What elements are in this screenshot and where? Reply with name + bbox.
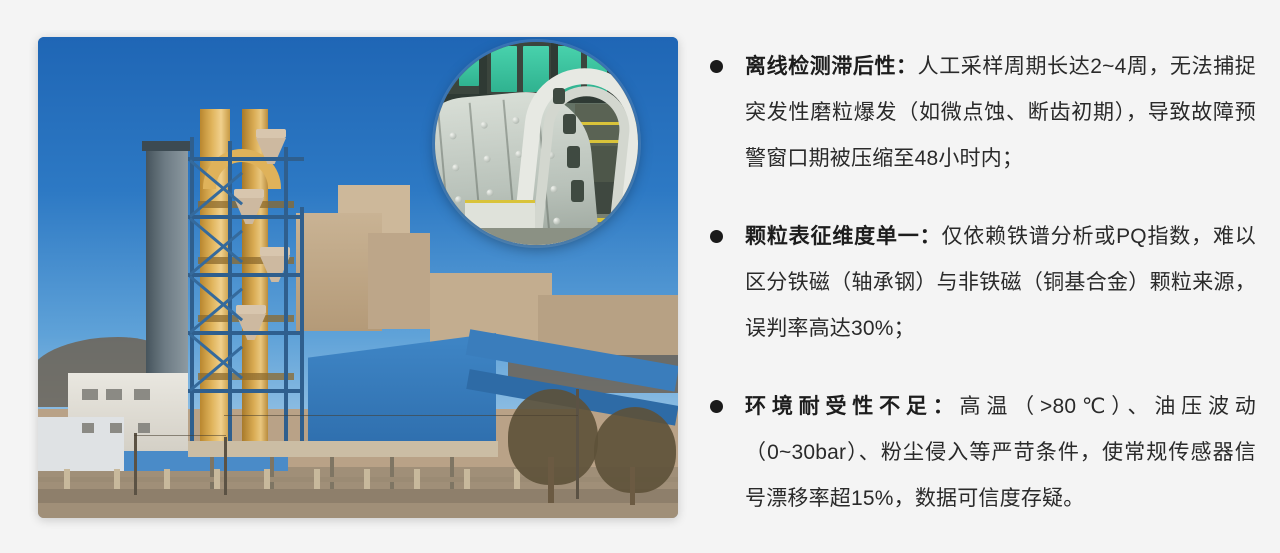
ring-lightening-hole [567, 146, 580, 168]
ring-lightening-hole [553, 88, 565, 104]
cement-plant-photo [38, 37, 678, 518]
drum-bolt [483, 155, 491, 163]
steel-beam [188, 331, 304, 335]
building-window [82, 389, 98, 400]
list-item: 离线检测滞后性：人工采样周期长达2~4周，无法捕捉突发性磨粒爆发（如微点蚀、断齿… [700, 44, 1256, 182]
platform-railing [465, 200, 535, 203]
building-window [134, 389, 150, 400]
bullet-dot-icon [710, 60, 723, 73]
steel-column [284, 147, 288, 447]
tower-band [198, 373, 294, 380]
drum-bolt [480, 121, 488, 129]
steel-beam [188, 157, 304, 161]
plant-block-mid [368, 233, 430, 329]
photo-canvas [38, 37, 678, 518]
green-glass-panel [459, 52, 479, 86]
utility-pole [134, 433, 137, 495]
floor-strip [435, 228, 638, 245]
list-item: 环境耐受性不足：高温（>80℃）、油压波动（0~30bar）、粉尘侵入等严苛条件… [700, 384, 1256, 522]
drum-rib [437, 106, 452, 245]
bullet-dot-icon [710, 230, 723, 243]
drum-bolt [452, 164, 460, 172]
power-wire [134, 435, 226, 436]
list-item: 颗粒表征维度单一：仅依赖铁谱分析或PQ指数，难以区分铁磁（轴承钢）与非铁磁（铜基… [700, 214, 1256, 352]
ring-lightening-hole [571, 180, 584, 202]
chimney-cap [142, 141, 192, 151]
canopy-roof [188, 441, 498, 457]
drum-bolt [455, 196, 463, 204]
steel-column [190, 137, 194, 447]
canopy-leg [330, 457, 334, 491]
drum-bolt [486, 189, 494, 197]
drum-bolt [449, 132, 457, 140]
steel-beam [188, 215, 304, 219]
drum-bolt [512, 117, 520, 125]
ball-mill-inset [435, 42, 638, 245]
ceiling-column [479, 42, 487, 102]
utility-pole [576, 389, 579, 499]
cyclone-top [234, 189, 264, 198]
building-window [110, 423, 122, 433]
bullet-dot-icon [710, 400, 723, 413]
slide-root: 离线检测滞后性：人工采样周期长达2~4周，无法捕捉突发性磨粒爆发（如微点蚀、断齿… [0, 0, 1280, 553]
tree-trunk [548, 457, 554, 503]
cyclone-top [236, 305, 266, 314]
cyclone-top [256, 129, 286, 138]
building-window [138, 423, 150, 433]
bullet-lead-label: 颗粒表征维度单一： [745, 225, 941, 248]
bullet-lead-label: 环境耐受性不足： [745, 395, 960, 418]
canopy-leg [270, 457, 274, 491]
ring-lightening-hole [563, 114, 576, 134]
green-glass-panel [491, 46, 517, 92]
building-window [82, 423, 94, 433]
canopy-leg [450, 457, 454, 491]
bullet-lead-label: 离线检测滞后性： [745, 55, 918, 78]
canopy-leg [390, 457, 394, 491]
utility-pole [224, 437, 227, 495]
steel-beam [188, 273, 304, 277]
power-wire [224, 415, 578, 416]
tree-trunk [630, 467, 635, 505]
bullet-list: 离线检测滞后性：人工采样周期长达2~4周，无法捕捉突发性磨粒爆发（如微点蚀、断齿… [700, 44, 1256, 522]
tree-canopy [594, 407, 676, 493]
building-window [106, 389, 122, 400]
steel-beam [188, 389, 304, 393]
steel-column [300, 207, 304, 447]
